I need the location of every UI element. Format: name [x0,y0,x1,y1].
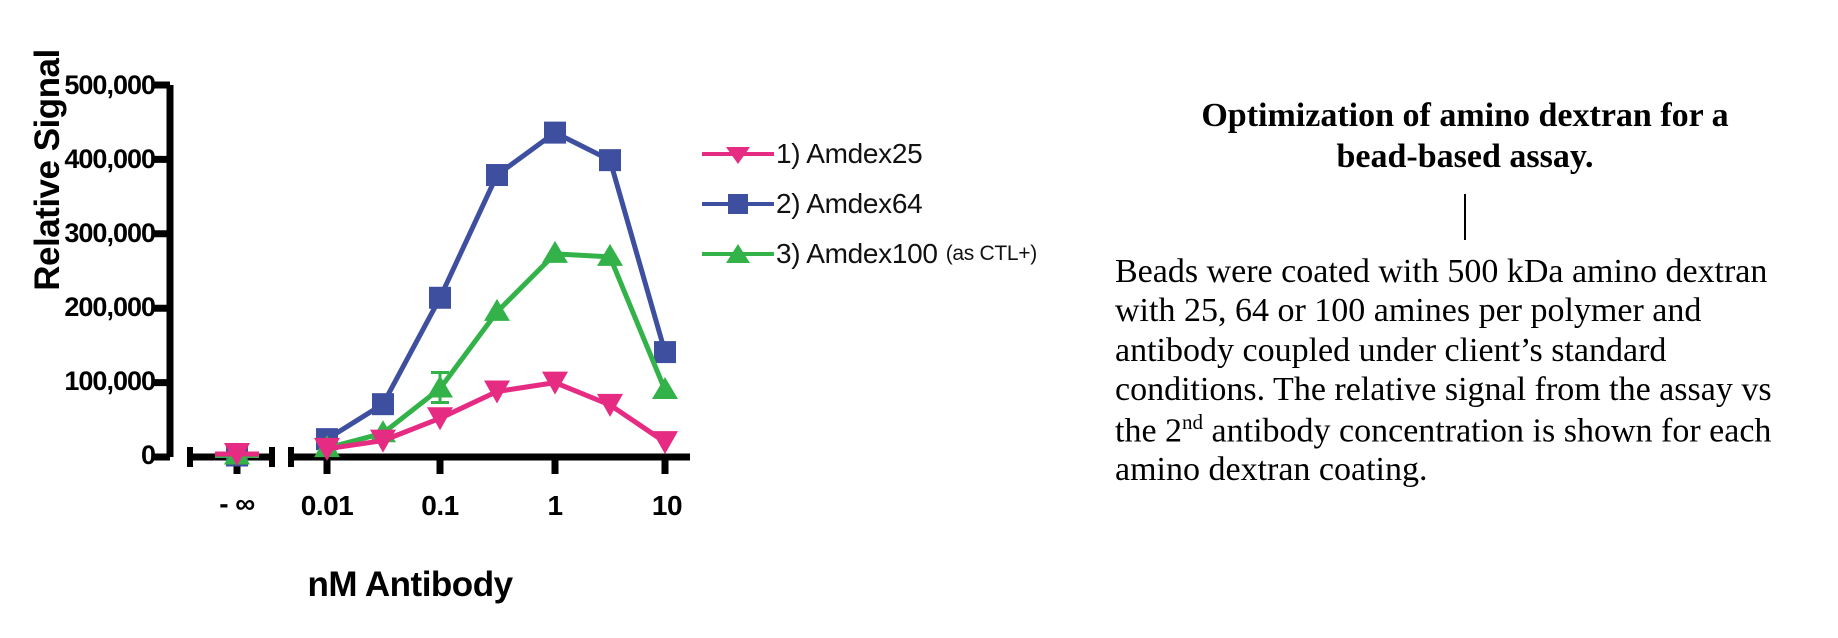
y-tick-label-300000: 300,000 [0,218,155,249]
caption-divider [1464,194,1466,240]
caption-body-superscript: nd [1182,410,1203,434]
caption-title-line-1: Optimization of amino dextran for a [1115,95,1815,136]
x-axis-title: nM Antibody [170,565,650,605]
data-point-marker [652,377,678,399]
data-point-marker [372,393,394,415]
caption-block: Optimization of amino dextran for a bead… [1115,95,1815,490]
caption-body-part-2: antibody concentration is shown for each… [1115,412,1771,488]
x-tick-label-1: 1 [495,490,615,522]
data-point-marker [429,287,451,309]
legend-item-amdex100[interactable]: 3) Amdex100 (as CTL+) [700,230,1037,278]
chart-legend: 1) Amdex25 2) Amdex64 3) Amdex100 (as CT… [700,130,1037,280]
chart-figure: Relative Signal nM Antibody 500,000 400,… [0,0,1080,638]
plot-canvas [0,0,1080,638]
series-line [327,254,665,448]
x-tick-label-10: 10 [607,490,727,522]
legend-label-amdex64: 2) Amdex64 [776,188,922,220]
legend-marker-triangle-down-icon [700,139,776,169]
y-tick-label-500000: 500,000 [0,70,155,101]
series-1 [215,372,678,466]
y-tick-label-100000: 100,000 [0,366,155,397]
series-3 [215,241,678,465]
caption-title-line-2: bead-based assay. [1115,136,1815,177]
legend-label-amdex100: 3) Amdex100 [776,238,938,270]
x-tick-label-0-01: 0.01 [267,490,387,522]
data-point-marker [654,341,676,363]
data-point-marker [544,122,566,144]
y-tick-label-200000: 200,000 [0,292,155,323]
caption-title: Optimization of amino dextran for a bead… [1115,95,1815,178]
x-tick-label-0-1: 0.1 [380,490,500,522]
data-point-marker [652,431,678,454]
y-tick-label-400000: 400,000 [0,144,155,175]
legend-label-amdex25: 1) Amdex25 [776,138,922,170]
data-point-marker [599,149,621,171]
legend-sublabel-amdex100: (as CTL+) [946,242,1037,266]
data-point-marker [486,164,508,186]
legend-marker-triangle-up-icon [700,239,776,269]
legend-marker-square-icon [700,189,776,219]
legend-item-amdex25[interactable]: 1) Amdex25 [700,130,1037,178]
caption-body: Beads were coated with 500 kDa amino dex… [1115,252,1815,490]
legend-item-amdex64[interactable]: 2) Amdex64 [700,180,1037,228]
data-point-marker [427,407,453,430]
y-tick-label-0: 0 [0,440,155,471]
